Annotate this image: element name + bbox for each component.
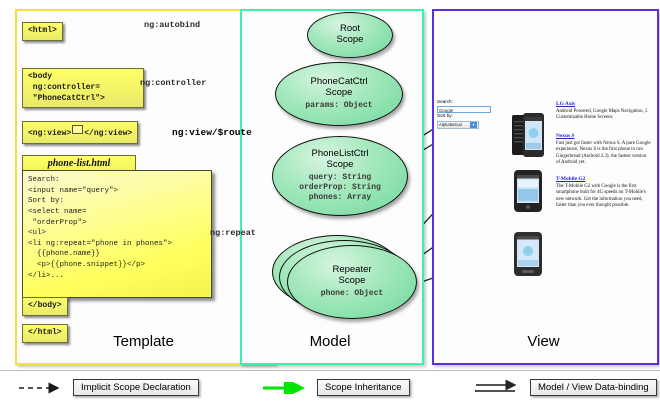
legend-model-view-data-binding: Model / View Data-binding xyxy=(475,379,657,396)
scope-phonelistctrl-title: PhoneListCtrl Scope xyxy=(311,149,368,171)
list-item[interactable]: LG Axis Android Powered, Google Maps Nav… xyxy=(556,101,651,122)
legend-divider xyxy=(0,370,660,371)
tag-body-open: <body ng:controller= "PhoneCatCtrl"> xyxy=(22,68,144,108)
scope-phonecatctrl-title: PhoneCatCtrl Scope xyxy=(310,77,367,99)
scope-root-title: Root Scope xyxy=(337,24,364,46)
sort-select-value: Alphabetical xyxy=(439,121,462,129)
tag-ngview: <ng:view></ng:view> xyxy=(22,121,138,144)
phone-name-link[interactable]: Nexus S xyxy=(556,133,651,139)
phone-snippet: The T-Mobile G2 with Google is the first… xyxy=(556,184,651,210)
legend-label-binding: Model / View Data-binding xyxy=(530,379,657,396)
legend-label-implicit: Implicit Scope Declaration xyxy=(73,379,199,396)
phone-list: LG Axis Android Powered, Google Maps Nav… xyxy=(556,101,651,214)
callout-code: Search: <input name="query"> Sort by: <s… xyxy=(22,170,212,298)
tag-html-open: <html> xyxy=(22,22,63,41)
ngview-slot-icon xyxy=(72,125,83,134)
sort-select[interactable]: Alphabetical ▾ xyxy=(437,121,479,129)
legend-scope-inheritance: Scope Inheritance xyxy=(262,379,410,396)
tag-body-close: </body> xyxy=(22,297,68,316)
search-input[interactable]: Google xyxy=(437,106,491,113)
panel-label-model: Model xyxy=(240,333,420,350)
list-item[interactable]: T-Mobile G2 The T-Mobile G2 with Google … xyxy=(556,176,651,210)
phone-name-link[interactable]: LG Axis xyxy=(556,101,651,107)
dashed-arrow-icon xyxy=(18,382,66,394)
tag-ngview-open: <ng:view> xyxy=(28,129,71,138)
search-label: Search: xyxy=(437,99,495,106)
scope-root: Root Scope xyxy=(307,12,393,58)
double-arrow-icon xyxy=(475,380,523,396)
scope-repeater-props: phone: Object xyxy=(321,289,383,299)
chevron-down-icon: ▾ xyxy=(470,122,477,129)
phone-thumbnail-tmobile-g2 xyxy=(514,232,542,276)
panel-label-template: Template xyxy=(15,333,272,350)
diagram-canvas: <html> <body ng:controller= "PhoneCatCtr… xyxy=(0,0,660,405)
scope-phonecatctrl: PhoneCatCtrl Scope params: Object xyxy=(275,62,403,126)
label-ng-repeat: ng:repeat xyxy=(210,228,256,238)
phone-name-link[interactable]: T-Mobile G2 xyxy=(556,176,651,182)
panel-label-view: View xyxy=(432,333,655,350)
phone-thumbnail-lg-axis xyxy=(512,113,544,157)
phone-snippet: Fast just got faster with Nexus S. A pur… xyxy=(556,141,651,167)
tag-ngview-close: </ng:view> xyxy=(84,129,132,138)
phone-thumbnail-nexus-s xyxy=(514,170,542,212)
solid-arrow-icon xyxy=(262,382,310,394)
label-ng-autobind: ng:autobind xyxy=(144,20,200,30)
scope-repeater: Repeater Scope phone: Object xyxy=(287,245,417,319)
scope-phonelistctrl: PhoneListCtrl Scope query: String orderP… xyxy=(272,136,408,216)
scope-repeater-title: Repeater Scope xyxy=(332,265,371,287)
scope-phonecatctrl-props: params: Object xyxy=(305,101,372,111)
phone-snippet: Android Powered, Google Maps Navigation,… xyxy=(556,109,651,122)
list-item[interactable]: Nexus S Fast just got faster with Nexus … xyxy=(556,133,651,167)
view-search-form: Search: Google Sort by: Alphabetical ▾ xyxy=(437,99,495,129)
legend-label-inheritance: Scope Inheritance xyxy=(317,379,410,396)
label-ng-controller: ng:controller xyxy=(140,78,206,88)
label-ng-view-route: ng:view/$route xyxy=(172,127,252,138)
phone-list-callout: phone-list.html Search: <input name="que… xyxy=(22,155,202,290)
sort-label: Sort by: xyxy=(437,113,495,120)
scope-phonelistctrl-props: query: String orderProp: String phones: … xyxy=(299,173,381,203)
legend-implicit-scope-declaration: Implicit Scope Declaration xyxy=(18,379,199,396)
